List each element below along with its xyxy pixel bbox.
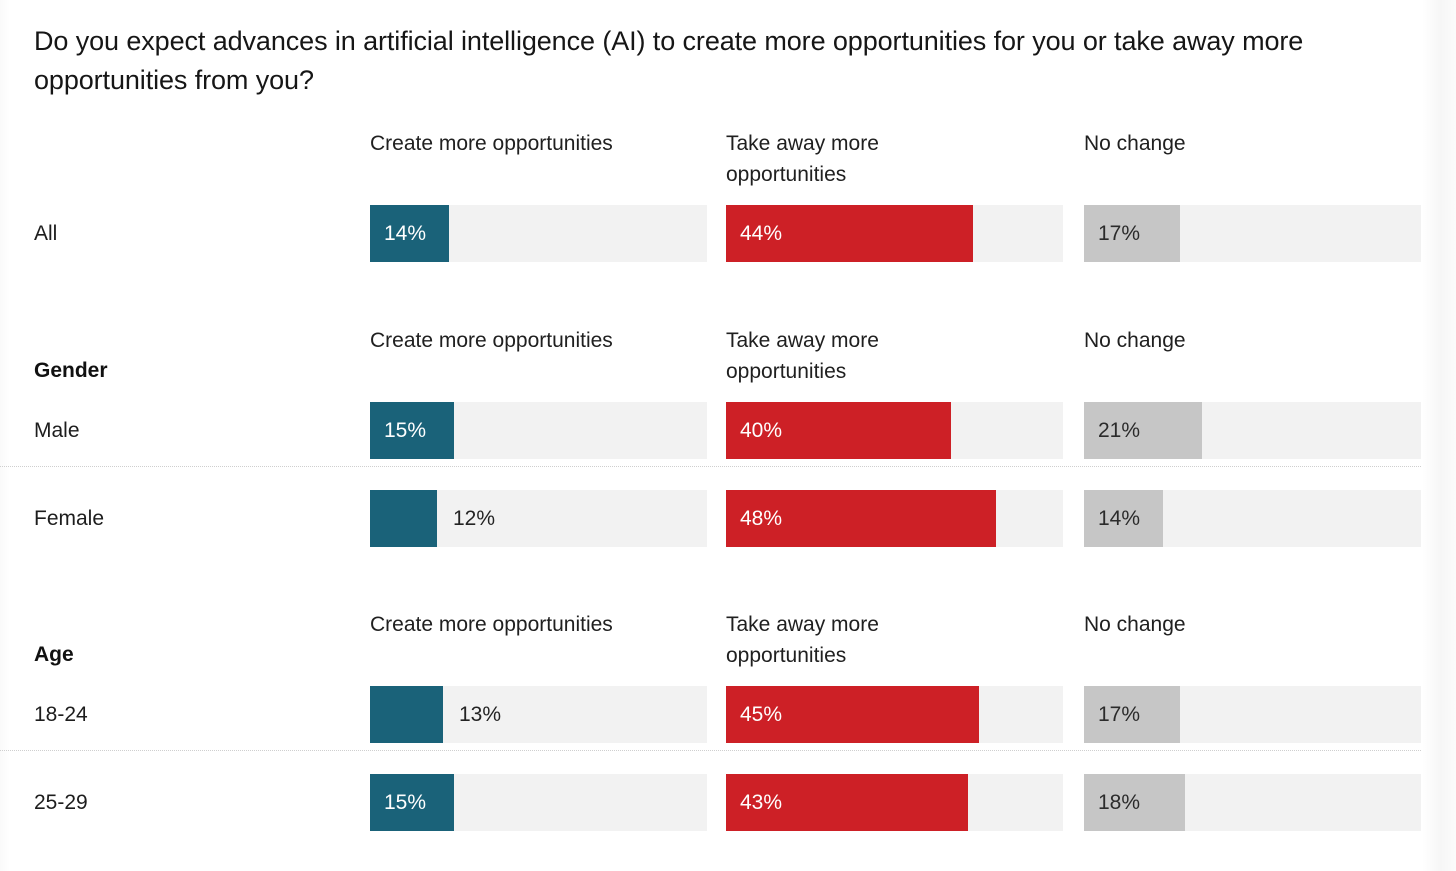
row-label: All	[34, 205, 57, 262]
bar-track-take: 45%	[726, 686, 1063, 743]
row-label: 25-29	[34, 774, 88, 831]
row-label: Male	[34, 402, 80, 459]
row-divider	[0, 466, 1421, 467]
column-header-create: Create more opportunities	[370, 325, 710, 356]
bar-value-label: 17%	[1098, 686, 1140, 743]
page-title: Do you expect advances in artificial int…	[34, 22, 1414, 100]
bar-value-label: 40%	[740, 402, 782, 459]
bar-track-take: 44%	[726, 205, 1063, 262]
group-label-gender: Gender	[34, 359, 108, 383]
bar-value-label: 13%	[459, 686, 501, 743]
bar-value-label: 44%	[740, 205, 782, 262]
bar-track-create: 12%	[370, 490, 707, 547]
bar-value-label: 15%	[384, 402, 426, 459]
chart-row: Male15%40%21%	[0, 402, 1456, 459]
bar-value-label: 12%	[453, 490, 495, 547]
bar-value-label: 18%	[1098, 774, 1140, 831]
chart-row: 25-2915%43%18%	[0, 774, 1456, 831]
bar-create	[370, 490, 437, 547]
chart-row: All14%44%17%	[0, 205, 1456, 262]
bar-create	[370, 686, 443, 743]
column-header-nochange: No change	[1084, 325, 1424, 356]
bar-track-nochange: 21%	[1084, 402, 1421, 459]
bar-track-create: 15%	[370, 402, 707, 459]
bar-value-label: 14%	[1098, 490, 1140, 547]
bar-track-nochange: 17%	[1084, 686, 1421, 743]
column-header-nochange: No change	[1084, 609, 1424, 640]
chart-row: 18-2413%45%17%	[0, 686, 1456, 743]
bar-track-take: 40%	[726, 402, 1063, 459]
column-header-take: Take away more opportunities	[726, 128, 946, 190]
bar-track-create: 14%	[370, 205, 707, 262]
column-header-take: Take away more opportunities	[726, 325, 946, 387]
bar-track-create: 13%	[370, 686, 707, 743]
bar-track-nochange: 14%	[1084, 490, 1421, 547]
bar-track-take: 43%	[726, 774, 1063, 831]
bar-value-label: 48%	[740, 490, 782, 547]
column-header-take: Take away more opportunities	[726, 609, 946, 671]
bar-track-take: 48%	[726, 490, 1063, 547]
column-header-create: Create more opportunities	[370, 128, 710, 159]
bar-value-label: 43%	[740, 774, 782, 831]
chart-page: Do you expect advances in artificial int…	[0, 0, 1456, 871]
bar-value-label: 21%	[1098, 402, 1140, 459]
group-label-age: Age	[34, 643, 74, 667]
column-header-nochange: No change	[1084, 128, 1424, 159]
bar-value-label: 14%	[384, 205, 426, 262]
bar-value-label: 15%	[384, 774, 426, 831]
column-header-create: Create more opportunities	[370, 609, 710, 640]
row-label: 18-24	[34, 686, 88, 743]
bar-value-label: 17%	[1098, 205, 1140, 262]
row-divider	[0, 750, 1421, 751]
bar-track-create: 15%	[370, 774, 707, 831]
chart-row: Female12%48%14%	[0, 490, 1456, 547]
bar-track-nochange: 18%	[1084, 774, 1421, 831]
row-label: Female	[34, 490, 104, 547]
bar-value-label: 45%	[740, 686, 782, 743]
bar-track-nochange: 17%	[1084, 205, 1421, 262]
